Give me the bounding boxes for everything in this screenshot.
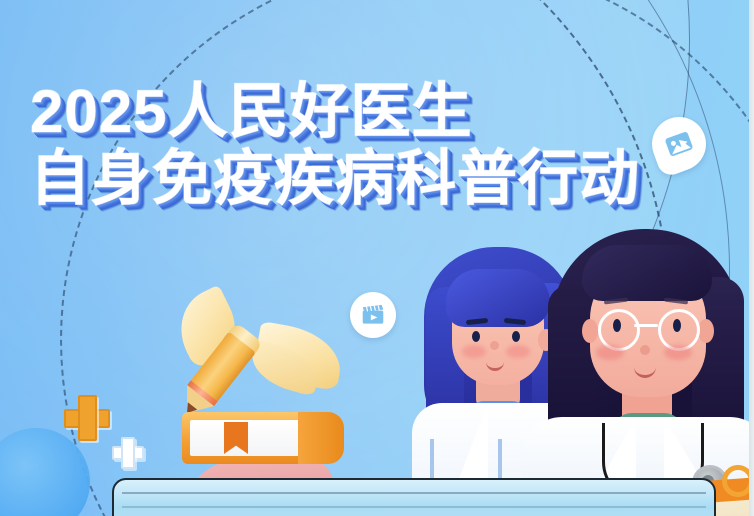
plus-icon-orange: [64, 395, 106, 437]
image-icon: [660, 125, 698, 163]
doctors-illustration: [398, 225, 754, 516]
poster-title: 2025人民好医生 自身免疫疾病科普行动: [30, 82, 640, 209]
eye-left: [472, 331, 480, 342]
plus-bar-v: [121, 437, 135, 469]
nose: [640, 345, 650, 355]
card-line-2: [122, 506, 706, 508]
blush-left: [596, 345, 624, 360]
bottom-card-panel: [112, 478, 716, 516]
glasses-bridge: [634, 324, 658, 327]
title-line-1: 2025人民好医生: [30, 82, 640, 142]
poster-canvas: 2025人民好医生 自身免疫疾病科普行动: [0, 0, 754, 516]
blush-right: [664, 345, 692, 360]
winged-pencil-illustration: [180, 300, 370, 420]
blush-left: [462, 345, 486, 358]
book-spine: [298, 412, 344, 464]
plus-bar-v: [78, 395, 97, 441]
book-illustration: [182, 412, 342, 464]
doctor-glasses: [546, 227, 746, 516]
hair-fringe: [582, 245, 712, 301]
title-line-2: 自身免疫疾病科普行动: [30, 149, 640, 209]
glasses-icon: [594, 309, 704, 345]
blush-right: [506, 345, 530, 358]
plus-icon-white: [112, 437, 140, 465]
card-line-1: [122, 492, 706, 494]
eye-right: [512, 331, 520, 342]
nose: [490, 341, 499, 350]
hair-fringe: [446, 269, 550, 327]
right-edge-strip: [749, 0, 754, 516]
